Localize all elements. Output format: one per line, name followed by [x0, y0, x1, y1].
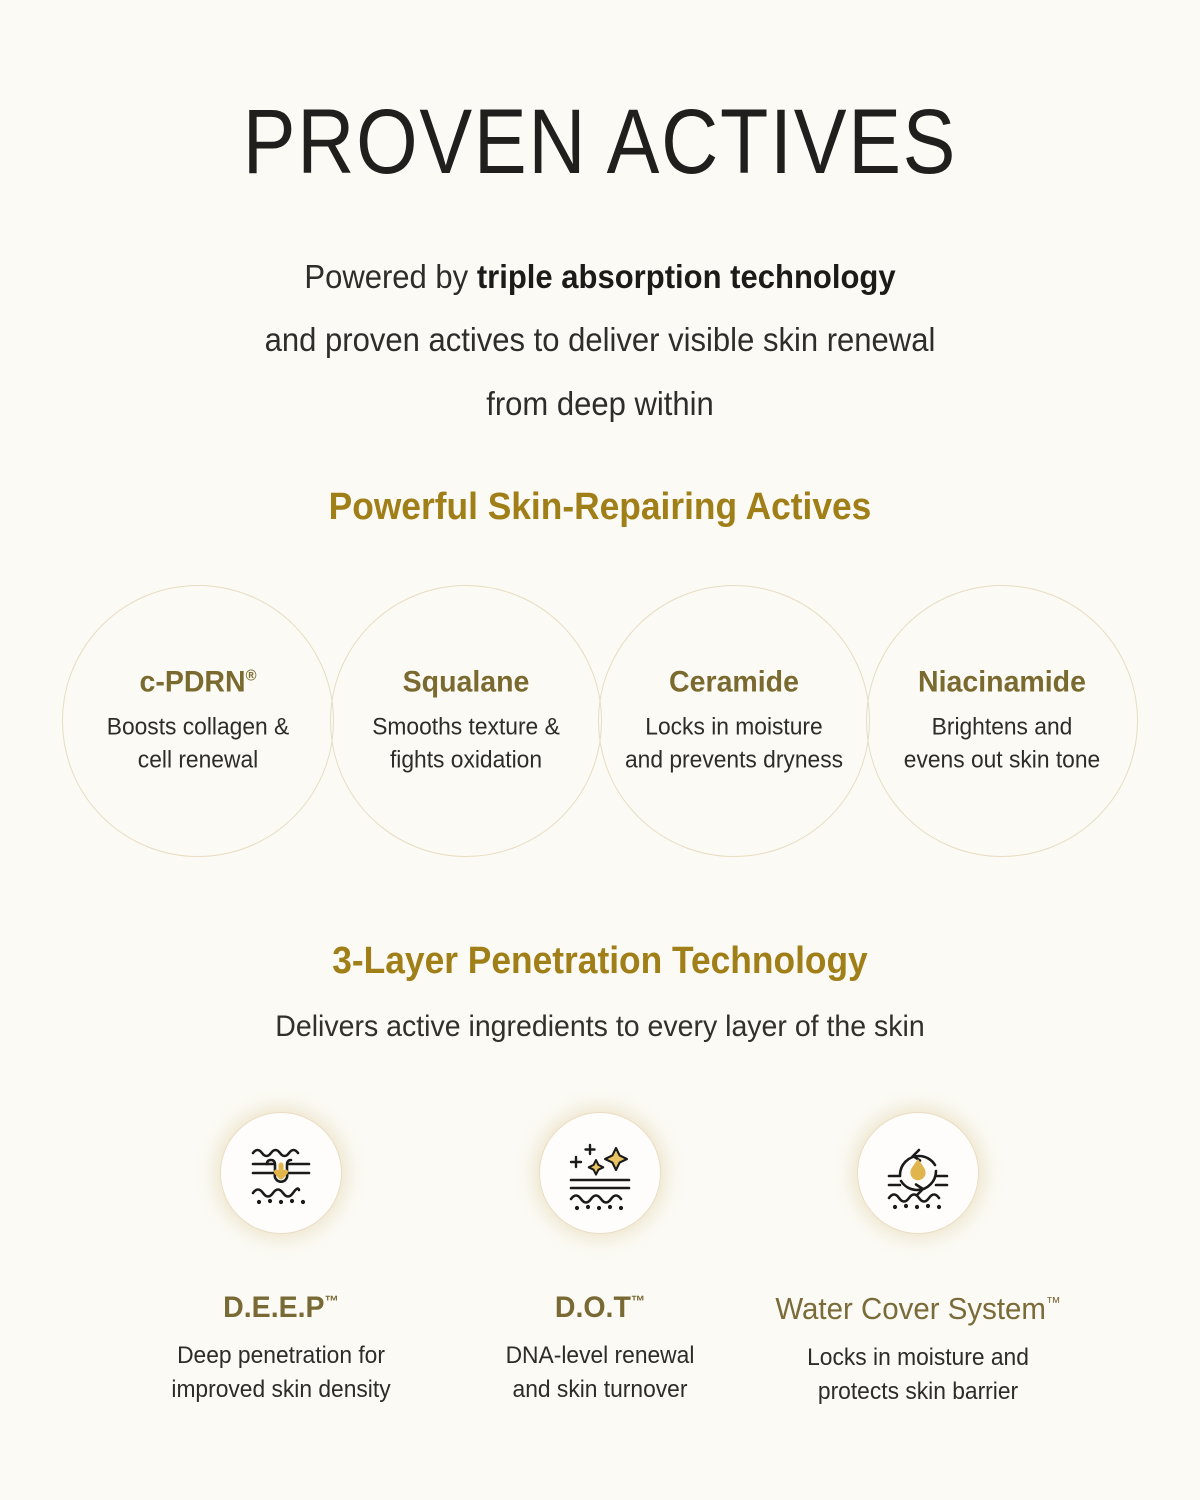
ingredient-circles-row: c-PDRN® Boosts collagen & cell renewal S… — [0, 585, 1200, 870]
plus-sparkles — [571, 1145, 595, 1167]
ingredient-desc-line-2: and prevents dryness — [606, 744, 863, 777]
ingredient-content: c-PDRN® Boosts collagen & cell renewal — [63, 665, 333, 776]
downward-arrow-icon — [276, 1165, 285, 1177]
skin-pore-penetration-icon — [239, 1131, 323, 1215]
ingredient-name: Squalane — [338, 665, 595, 699]
technology-item-dot: D.O.T™ DNA-level renewal and skin turnov… — [435, 1113, 765, 1407]
ingredient-content: Niacinamide Brightens and evens out skin… — [867, 665, 1137, 776]
hero-subtitle-line-3: from deep within — [36, 372, 1164, 435]
ingredient-name: Niacinamide — [874, 665, 1131, 699]
technology-desc-line-2: improved skin density — [124, 1373, 438, 1407]
hero-subtitle-line-1: Powered by triple absorption technology — [36, 245, 1164, 308]
technology-items-row: D.E.E.P™ Deep penetration for improved s… — [0, 1113, 1200, 1443]
technology-item-deep: D.E.E.P™ Deep penetration for improved s… — [116, 1113, 446, 1407]
technology-name: D.O.T™ — [443, 1291, 757, 1325]
ingredient-desc-line-2: evens out skin tone — [874, 744, 1131, 777]
dots-group — [575, 1205, 623, 1210]
actives-section-heading: Powerful Skin-Repairing Actives — [42, 486, 1158, 529]
ingredient-name: Ceramide — [606, 665, 863, 699]
star-sparkle-large — [605, 1148, 627, 1170]
ingredient-desc-line-2: fights oxidation — [338, 744, 595, 777]
trademark-mark-icon: ™ — [631, 1293, 645, 1310]
water-cycle-droplet-icon — [876, 1131, 960, 1215]
hero-subtitle-line-2: and proven actives to deliver visible sk… — [36, 308, 1164, 371]
technology-item-water-cover-system: Water Cover System™ Locks in moisture an… — [753, 1113, 1083, 1409]
ingredient-content: Ceramide Locks in moisture and prevents … — [599, 665, 869, 776]
ingredient-desc-line-1: Smooths texture & — [338, 710, 595, 743]
ingredient-circle-niacinamide: Niacinamide Brightens and evens out skin… — [866, 585, 1138, 857]
hero-subtitle-prefix: Powered by — [304, 258, 476, 295]
ingredient-desc-line-1: Boosts collagen & — [70, 710, 327, 743]
technology-badge — [858, 1113, 978, 1233]
dots-group — [257, 1199, 305, 1204]
page-title: PROVEN ACTIVES — [84, 96, 1116, 188]
ingredient-desc-line-1: Brightens and — [874, 710, 1131, 743]
ingredient-circle-c-pdrn: c-PDRN® Boosts collagen & cell renewal — [62, 585, 334, 857]
dots-group — [893, 1204, 941, 1209]
ingredient-circle-ceramide: Ceramide Locks in moisture and prevents … — [598, 585, 870, 857]
technology-section-subheading: Delivers active ingredients to every lay… — [30, 1010, 1170, 1044]
hero-subtitle: Powered by triple absorption technology … — [36, 245, 1164, 435]
trademark-mark-icon: ™ — [1046, 1295, 1061, 1312]
skin-sparkle-renewal-icon — [558, 1131, 642, 1215]
registered-mark-icon: ® — [246, 667, 257, 684]
ingredient-desc-line-2: cell renewal — [70, 744, 327, 777]
technology-name: Water Cover System™ — [761, 1291, 1075, 1327]
ingredient-name: c-PDRN® — [70, 665, 327, 699]
hero-subtitle-emphasis: triple absorption technology — [477, 258, 896, 295]
ingredient-desc-line-1: Locks in moisture — [606, 710, 863, 743]
technology-badge — [221, 1113, 341, 1233]
ingredient-circle-squalane: Squalane Smooths texture & fights oxidat… — [330, 585, 602, 857]
technology-desc-line-1: Locks in moisture and — [761, 1341, 1075, 1375]
technology-desc-line-1: Deep penetration for — [124, 1339, 438, 1373]
technology-name: D.E.E.P™ — [124, 1291, 438, 1325]
infographic-page: PROVEN ACTIVES Powered by triple absorpt… — [0, 0, 1200, 1500]
technology-section-heading: 3-Layer Penetration Technology — [42, 940, 1158, 983]
technology-desc-line-2: and skin turnover — [443, 1373, 757, 1407]
trademark-mark-icon: ™ — [325, 1293, 339, 1310]
technology-desc-line-2: protects skin barrier — [761, 1375, 1075, 1409]
technology-desc-line-1: DNA-level renewal — [443, 1339, 757, 1373]
technology-badge — [540, 1113, 660, 1233]
ingredient-content: Squalane Smooths texture & fights oxidat… — [331, 665, 601, 776]
water-droplet-icon — [910, 1159, 925, 1180]
star-sparkle-small — [589, 1160, 604, 1175]
